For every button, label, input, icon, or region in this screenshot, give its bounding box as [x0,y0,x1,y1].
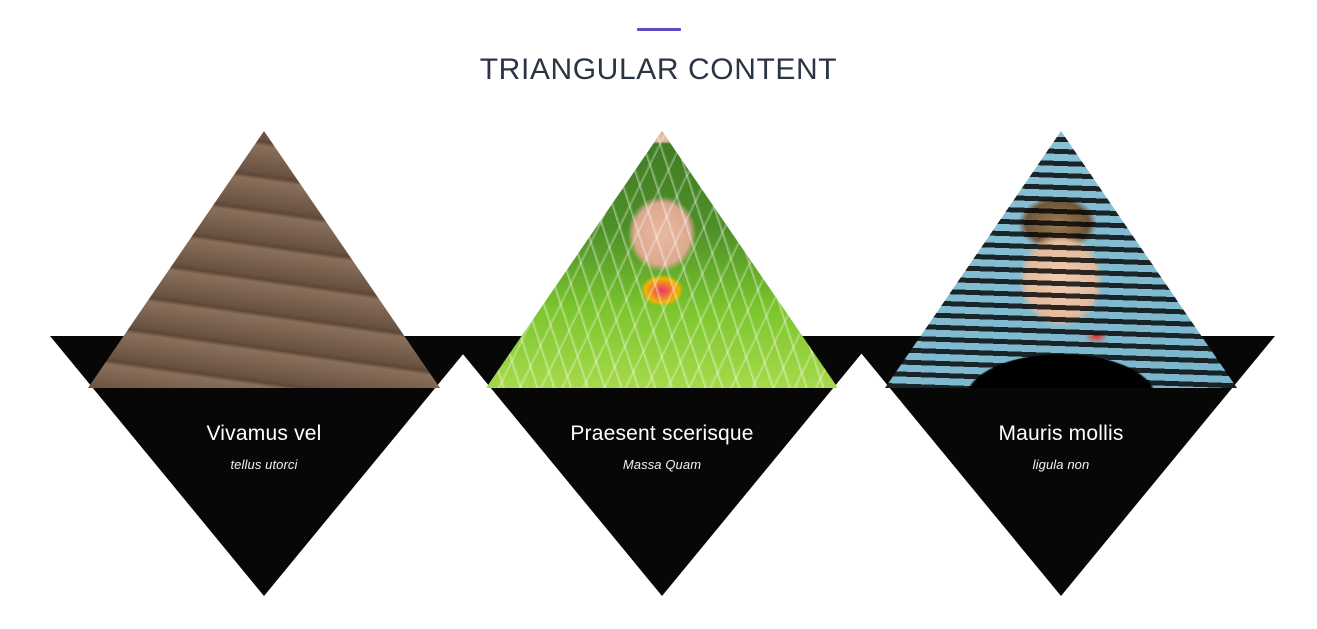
card-image-triangle[interactable] [885,131,1237,388]
triangular-content-page: TRIANGULAR CONTENT Vivamus vel tellus ut… [0,0,1317,629]
card-photo [885,131,1237,388]
triangular-card[interactable]: Mauris mollis ligula non [885,131,1237,601]
triangular-cards-row: Vivamus vel tellus utorci Praesent sceri… [0,131,1317,601]
card-image-triangle[interactable] [88,131,440,388]
triangular-card[interactable]: Praesent scerisque Massa Quam [486,131,838,601]
page-title: TRIANGULAR CONTENT [0,53,1317,87]
triangular-card[interactable]: Vivamus vel tellus utorci [88,131,440,601]
card-image-triangle[interactable] [486,131,838,388]
card-photo [88,131,440,388]
title-divider [637,28,681,31]
page-header: TRIANGULAR CONTENT [0,0,1317,87]
card-photo [486,131,838,388]
